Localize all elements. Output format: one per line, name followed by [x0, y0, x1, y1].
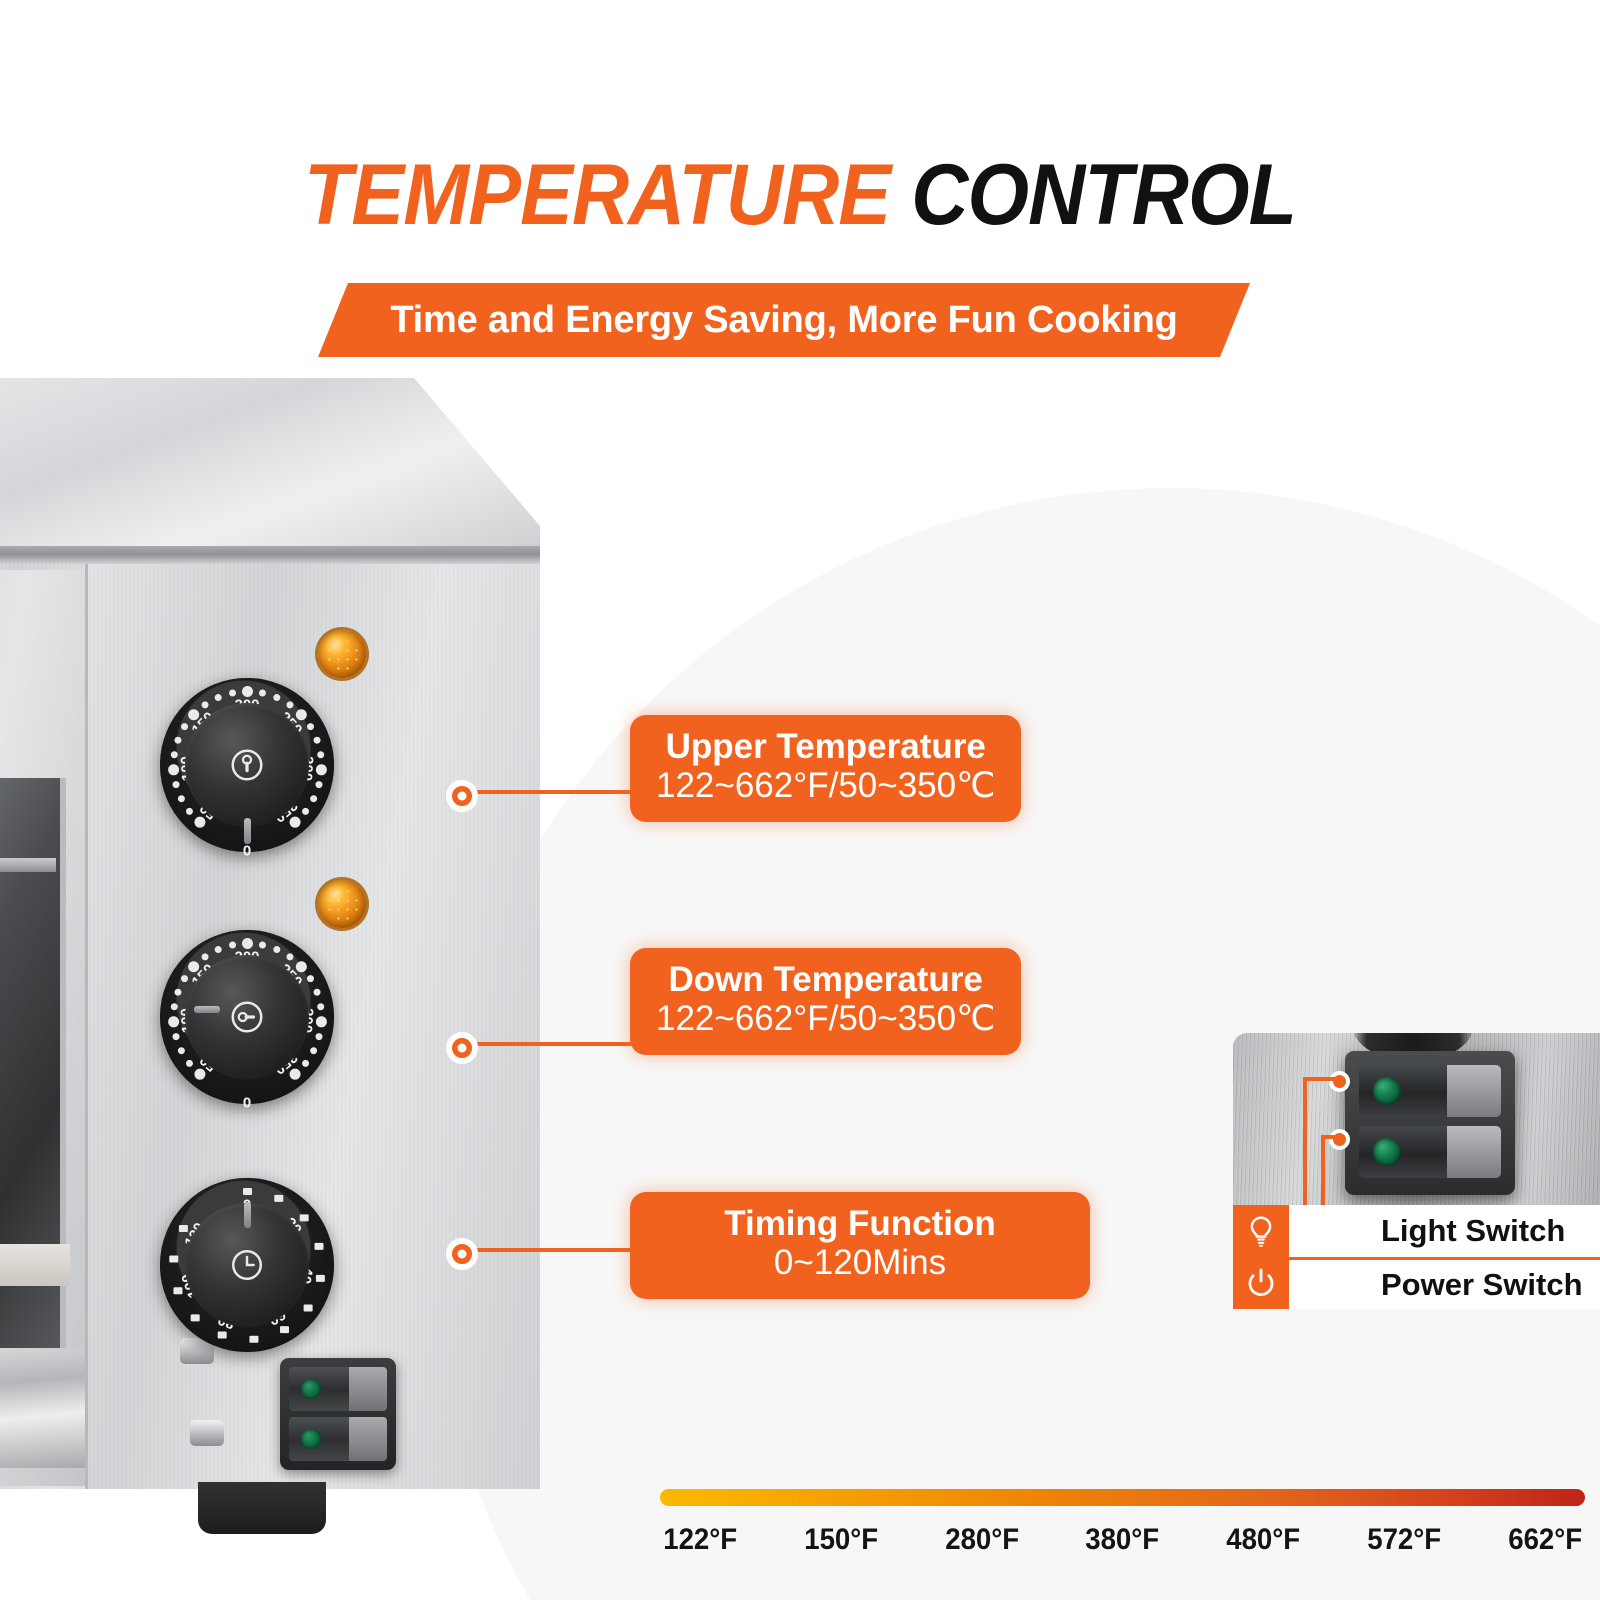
dial-tick — [258, 689, 265, 696]
dial-tick — [173, 1287, 182, 1294]
timer-knob[interactable]: 020406080100120 — [160, 1178, 334, 1352]
temperature-scale-labels: 122°F 150°F 280°F 380°F 480°F 572°F 662°… — [660, 1523, 1585, 1557]
leader-line-timing-function — [458, 1248, 648, 1252]
callout-down-temperature-title: Down Temperature — [656, 960, 995, 999]
callout-timing-function-title: Timing Function — [656, 1204, 1064, 1243]
subtitle-text: Time and Energy Saving, More Fun Cooking — [318, 283, 1250, 357]
side-stud-3 — [190, 1420, 224, 1446]
dial-tick — [201, 953, 208, 960]
dial-tick — [217, 1331, 226, 1338]
dial-tick — [273, 946, 280, 953]
clock-icon — [228, 1246, 266, 1284]
inset-light-switch-led — [1373, 1077, 1401, 1105]
dial-tick — [229, 689, 236, 696]
dial-tick — [314, 1242, 323, 1249]
legend-label-light-switch: Light Switch — [1381, 1213, 1565, 1249]
dial-tick — [178, 1225, 187, 1232]
dial-tick — [317, 1003, 324, 1010]
callout-upper-temperature-value: 122~662°F/50~350℃ — [656, 766, 995, 807]
dial-tick — [242, 686, 253, 697]
legend-label-power-switch: Power Switch — [1381, 1267, 1583, 1303]
oven-shelf — [0, 858, 56, 872]
switch-panel-inset-photo — [1233, 1033, 1600, 1205]
dial-tick — [229, 941, 236, 948]
leader-line-upper-temperature — [458, 790, 648, 794]
dial-tick — [174, 988, 181, 995]
dial-tick — [310, 795, 317, 802]
temperature-tick-6: 662°F — [1508, 1523, 1582, 1557]
callout-down-temperature-value: 122~662°F/50~350℃ — [656, 999, 995, 1040]
dial-tick — [177, 795, 184, 802]
dial-tick — [306, 975, 313, 982]
oven-power-switch[interactable] — [289, 1417, 387, 1461]
dial-tick — [172, 781, 179, 788]
upper-heating-element-icon — [228, 746, 266, 784]
temperature-gradient-bar — [660, 1489, 1585, 1506]
dial-tick — [286, 953, 293, 960]
dial-tick — [177, 1047, 184, 1054]
dial-tick — [181, 723, 188, 730]
dial-tick — [170, 1003, 177, 1010]
legend-row-power-switch: Power Switch — [1289, 1257, 1600, 1309]
dial-tick — [302, 1059, 309, 1066]
lightbulb-icon — [1233, 1205, 1289, 1257]
power-switch-led — [301, 1429, 321, 1449]
infographic-canvas: TEMPERATURE CONTROL Time and Energy Savi… — [0, 0, 1600, 1600]
power-icon — [1233, 1257, 1289, 1309]
dial-tick — [185, 1059, 192, 1066]
callout-timing-function: Timing Function 0~120Mins — [630, 1192, 1090, 1299]
dial-tick — [249, 1335, 258, 1342]
dial-tick — [289, 816, 300, 827]
lower-indicator-lamp — [318, 880, 366, 928]
dial-tick — [315, 1274, 324, 1281]
leader-dot-upper-temperature — [446, 780, 478, 812]
dial-tick — [299, 1214, 308, 1221]
dial-tick — [201, 701, 208, 708]
callout-timing-function-value: 0~120Mins — [656, 1243, 1064, 1284]
page-title-secondary: CONTROL — [911, 147, 1296, 243]
knob-cap-lower — [185, 955, 309, 1079]
dial-tick — [302, 807, 309, 814]
knob-pointer-lower — [194, 1006, 220, 1013]
inset-light-switch[interactable] — [1359, 1065, 1501, 1117]
dial-tick — [168, 1016, 179, 1027]
callout-down-temperature: Down Temperature 122~662°F/50~350℃ — [630, 948, 1021, 1055]
dial-tick — [172, 1033, 179, 1040]
dial-tick — [303, 1304, 312, 1311]
down-temperature-knob[interactable]: 501001502002503003500 — [160, 930, 334, 1104]
leader-dot-down-temperature — [446, 1032, 478, 1064]
oven-foot — [198, 1482, 326, 1534]
dial-tick — [169, 1255, 178, 1262]
temperature-tick-4: 480°F — [1226, 1523, 1300, 1557]
dial-tick — [168, 764, 179, 775]
dial-tick — [274, 1194, 283, 1201]
dial-tick — [242, 938, 253, 949]
dial-tick — [280, 1326, 289, 1333]
dial-tick — [185, 807, 192, 814]
dial-tick — [243, 1188, 252, 1195]
dial-tick — [214, 946, 221, 953]
subtitle-banner: Time and Energy Saving, More Fun Cooking — [318, 283, 1250, 357]
lower-heating-element-icon — [228, 998, 266, 1036]
dial-tick — [315, 781, 322, 788]
dial-tick — [170, 751, 177, 758]
leader-dot-power-switch — [1329, 1129, 1350, 1150]
inset-rocker-switch-block[interactable] — [1345, 1051, 1515, 1195]
dial-tick — [306, 723, 313, 730]
dial-tick — [313, 988, 320, 995]
oven-top-surface — [0, 378, 540, 568]
dial-tick — [190, 1314, 199, 1321]
switch-legend: Light Switch Power Switch — [1233, 1205, 1600, 1309]
dial-tick — [258, 941, 265, 948]
leader-line-down-temperature — [458, 1042, 648, 1046]
callout-upper-temperature: Upper Temperature 122~662°F/50~350℃ — [630, 715, 1021, 822]
leader-line-light-switch-h — [1303, 1077, 1335, 1081]
dial-tick — [313, 736, 320, 743]
knob-pointer-timer — [244, 1202, 251, 1228]
temperature-tick-1: 150°F — [804, 1523, 878, 1557]
dial-tick — [273, 694, 280, 701]
dial-label-zero: 0 — [243, 1095, 251, 1112]
dial-label-zero: 0 — [243, 843, 251, 860]
dial-tick — [174, 736, 181, 743]
legend-icon-strip — [1233, 1205, 1289, 1309]
temperature-tick-2: 280°F — [945, 1523, 1019, 1557]
inset-power-switch-led — [1373, 1138, 1401, 1166]
knob-pointer-upper — [244, 818, 251, 844]
upper-indicator-lamp — [318, 630, 366, 678]
pizza-oven-photo: 501001502002503003500 501001502002503003… — [0, 378, 570, 1538]
upper-temperature-knob[interactable]: 501001502002503003500 — [160, 678, 334, 852]
leader-dot-timing-function — [446, 1238, 478, 1270]
dial-tick — [315, 1016, 326, 1027]
dial-tick — [214, 694, 221, 701]
dial-tick — [181, 975, 188, 982]
knob-cap-upper — [185, 703, 309, 827]
leader-dot-light-switch — [1329, 1071, 1350, 1092]
page-title: TEMPERATURE CONTROL — [304, 152, 1296, 238]
dial-tick — [289, 1068, 300, 1079]
dial-tick — [315, 1033, 322, 1040]
page-title-primary: TEMPERATURE — [304, 147, 890, 243]
temperature-scale: 122°F 150°F 280°F 380°F 480°F 572°F 662°… — [660, 1489, 1585, 1589]
oven-rocker-switch-block[interactable] — [280, 1358, 396, 1470]
temperature-tick-5: 572°F — [1367, 1523, 1441, 1557]
leader-line-light-switch-v — [1303, 1077, 1307, 1205]
dial-tick — [286, 701, 293, 708]
inset-power-switch[interactable] — [1359, 1126, 1501, 1178]
temperature-tick-0: 122°F — [663, 1523, 737, 1557]
oven-top-edge — [0, 546, 540, 564]
dial-tick — [317, 751, 324, 758]
oven-baking-stone — [0, 1244, 70, 1286]
leader-line-power-switch-v — [1321, 1135, 1325, 1205]
temperature-tick-3: 380°F — [1086, 1523, 1160, 1557]
callout-upper-temperature-title: Upper Temperature — [656, 727, 995, 766]
dial-tick — [315, 764, 326, 775]
light-switch-led — [301, 1379, 321, 1399]
dial-tick — [310, 1047, 317, 1054]
legend-row-light-switch: Light Switch — [1289, 1205, 1600, 1257]
oven-light-switch[interactable] — [289, 1367, 387, 1411]
